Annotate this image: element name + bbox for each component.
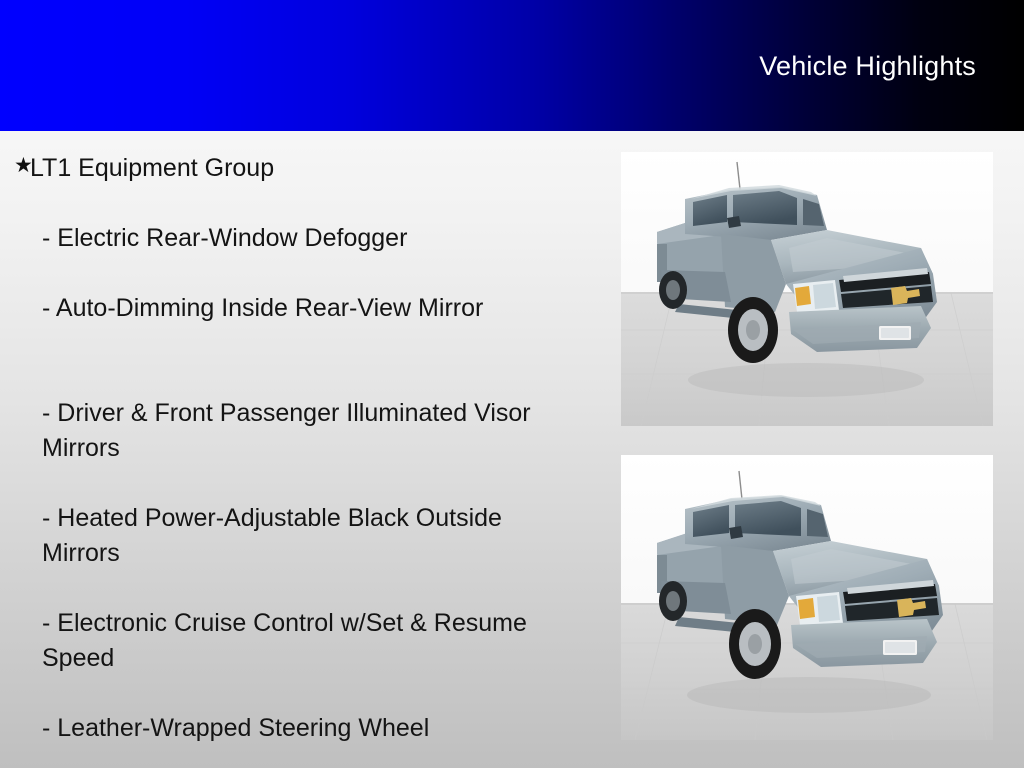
list-item: - Heated Power-Adjustable Black Outside … [42,501,582,571]
vehicle-photo-top-image [621,152,993,426]
star-bullet-icon: ★ [0,151,30,181]
content-column: ★ LT1 Equipment Group - Electric Rear-Wi… [0,131,600,768]
list-item: - Driver & Front Passenger Illuminated V… [42,396,582,466]
truck-illustration [621,152,993,426]
slide-canvas: Vehicle Highlights ★ LT1 Equipment Group… [0,0,1024,768]
header-band: Vehicle Highlights [0,0,1024,131]
vehicle-photo-top [621,152,993,426]
list-item: - Electric Rear-Window Defogger [42,221,582,256]
list-item: - Electronic Cruise Control w/Set & Resu… [42,606,582,676]
page-title: Vehicle Highlights [759,50,976,82]
list-item: - Auto-Dimming Inside Rear-View Mirror [42,291,582,326]
truck-illustration [621,455,993,740]
list-item: - Leather-Wrapped Steering Wheel [42,711,582,746]
vehicle-photo-bottom [621,455,993,740]
bullet-heading-row: ★ LT1 Equipment Group [0,151,580,186]
vehicle-photo-bottom-image [621,455,993,740]
bullet-heading-label: LT1 Equipment Group [30,151,274,186]
